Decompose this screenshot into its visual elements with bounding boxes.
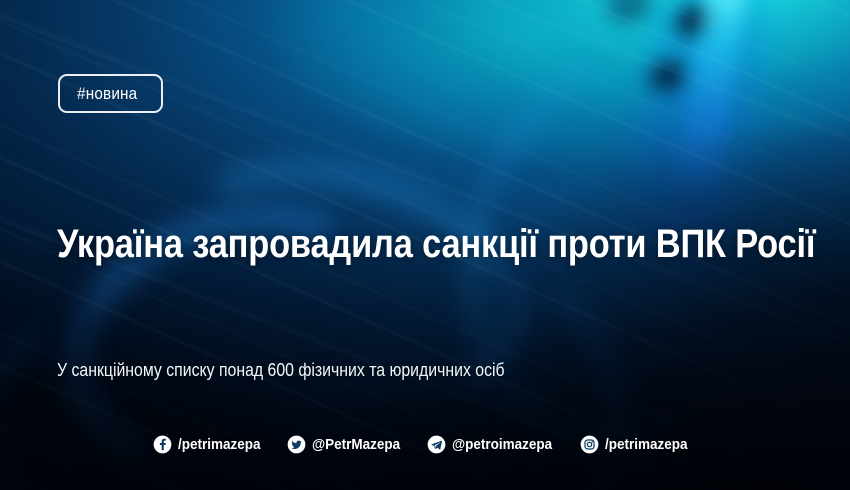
- card-content: #новина Україна запровадила санкції прот…: [0, 0, 850, 490]
- social-link-instagram[interactable]: /petrimazepa: [580, 435, 697, 454]
- subheadline-text: У санкційному списку понад 600 фізичних …: [57, 358, 505, 382]
- news-tag-badge[interactable]: #новина: [58, 74, 163, 113]
- twitter-icon: [287, 435, 306, 454]
- facebook-handle: /petrimazepa: [178, 436, 261, 453]
- telegram-icon: [427, 435, 446, 454]
- news-banner-card: #новина Україна запровадила санкції прот…: [0, 0, 850, 490]
- headline-title: Україна запровадила санкції проти ВПК Ро…: [57, 221, 815, 267]
- instagram-handle: /petrimazepa: [605, 436, 688, 453]
- social-link-twitter[interactable]: @PetrMazepa: [287, 435, 410, 454]
- telegram-handle: @petroimazepa: [452, 436, 552, 453]
- news-tag-label: #новина: [77, 84, 137, 104]
- facebook-icon: [153, 435, 172, 454]
- instagram-icon: [580, 435, 599, 454]
- social-link-facebook[interactable]: /petrimazepa: [153, 435, 270, 454]
- social-links-bar: /petrimazepa @PetrMazepa: [0, 435, 850, 454]
- social-link-telegram[interactable]: @petroimazepa: [427, 435, 563, 454]
- twitter-handle: @PetrMazepa: [312, 436, 400, 453]
